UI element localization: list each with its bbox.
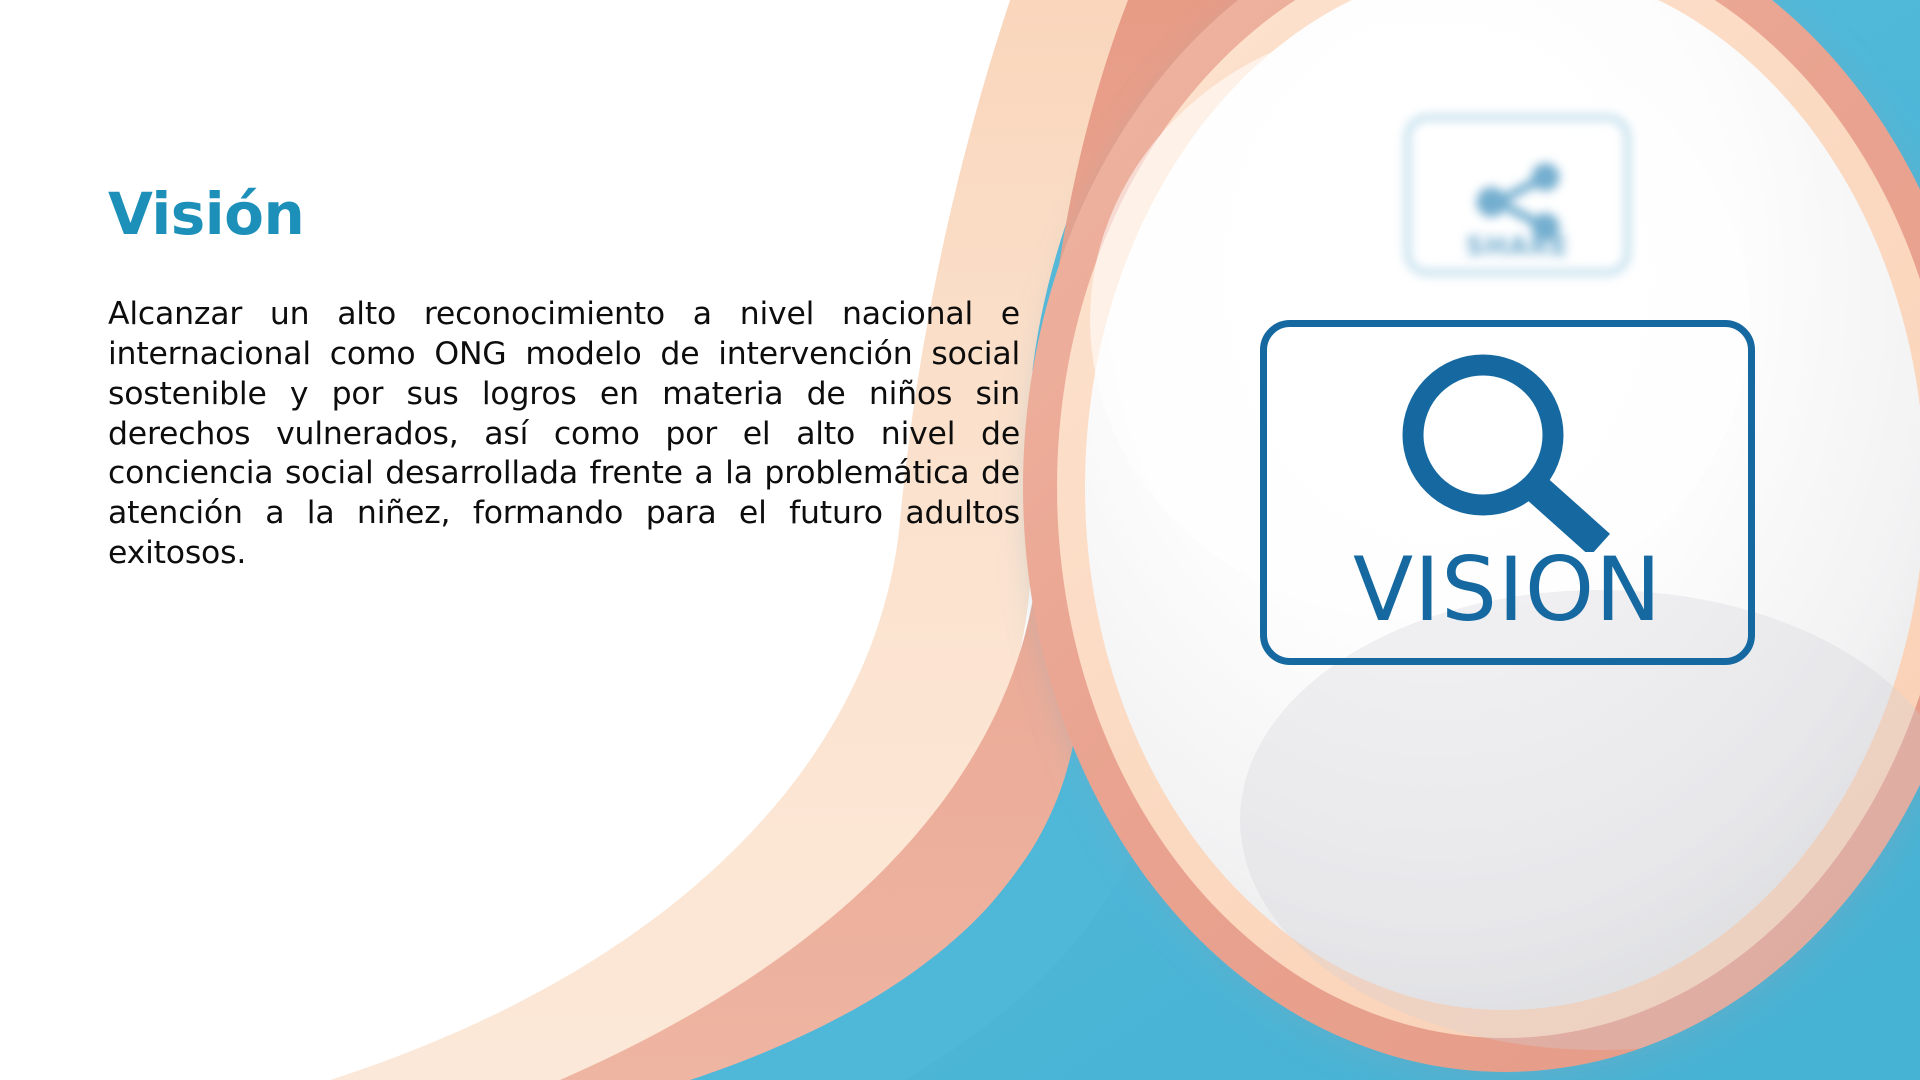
share-card: SHARE <box>1405 115 1630 275</box>
text-column: Visión Alcanzar un alto reconocimiento a… <box>108 185 1020 574</box>
blue-ribbon-bottom <box>690 735 1165 1080</box>
badge-content: SHARE VISION <box>1205 95 1805 885</box>
body-paragraph: Alcanzar un alto reconocimiento a nivel … <box>108 295 1020 574</box>
magnifier-icon <box>1378 347 1638 552</box>
slide-canvas: Visión Alcanzar un alto reconocimiento a… <box>0 0 1920 1080</box>
vision-card: VISION <box>1260 320 1755 665</box>
share-icon <box>1465 162 1570 242</box>
share-card-label: SHARE <box>1410 232 1625 262</box>
page-title: Visión <box>108 185 1020 243</box>
vision-card-label: VISION <box>1267 546 1748 634</box>
